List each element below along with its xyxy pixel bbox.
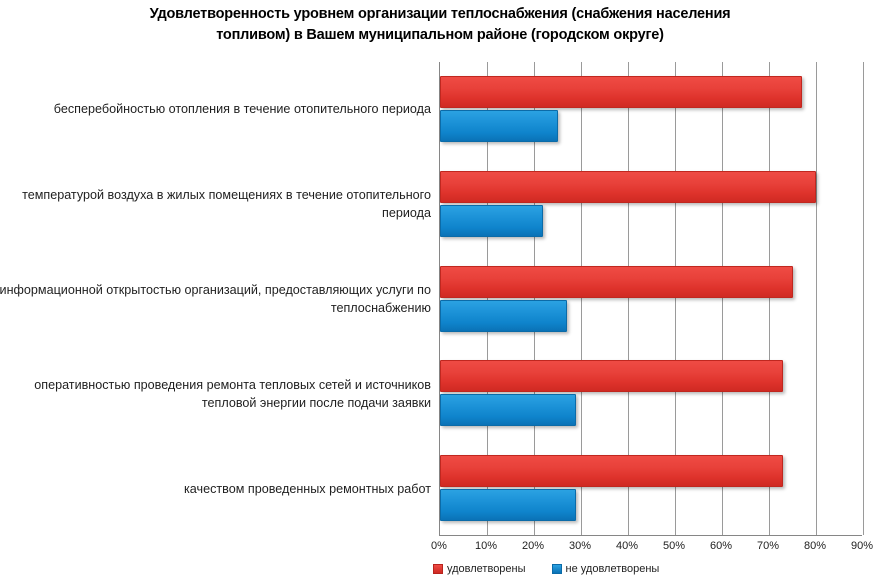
chart-legend: удовлетвореныне удовлетворены	[433, 563, 659, 575]
bar-not-satisfied[interactable]	[440, 394, 576, 426]
category-label: температурой воздуха в жилых помещениях …	[0, 177, 431, 231]
chart-title: Удовлетворенность уровнем организации те…	[90, 4, 790, 46]
x-tick-label: 40%	[604, 540, 650, 552]
x-tick-label: 70%	[745, 540, 791, 552]
legend-swatch-not-satisfied-icon	[552, 564, 562, 574]
x-tick-label: 30%	[557, 540, 603, 552]
plot-area	[439, 62, 862, 536]
category-row	[440, 441, 862, 536]
x-tick-label: 60%	[698, 540, 744, 552]
legend-item[interactable]: удовлетворены	[433, 563, 526, 575]
x-tick-label: 90%	[839, 540, 882, 552]
x-tick-label: 10%	[463, 540, 509, 552]
bar-not-satisfied[interactable]	[440, 205, 543, 237]
bar-not-satisfied[interactable]	[440, 300, 567, 332]
chart-title-line-1: Удовлетворенность уровнем организации те…	[90, 4, 790, 25]
bar-satisfied[interactable]	[440, 266, 793, 298]
x-tick-label: 0%	[416, 540, 462, 552]
bar-satisfied[interactable]	[440, 360, 783, 392]
bar-satisfied[interactable]	[440, 455, 783, 487]
legend-swatch-satisfied-icon	[433, 564, 443, 574]
category-label: информационной открытостью организаций, …	[0, 272, 431, 326]
x-tick-label: 50%	[651, 540, 697, 552]
bar-satisfied[interactable]	[440, 171, 816, 203]
x-tick-label: 20%	[510, 540, 556, 552]
bar-not-satisfied[interactable]	[440, 489, 576, 521]
gridline	[863, 62, 864, 535]
category-label: бесперебойностью отопления в течение ото…	[0, 82, 431, 136]
legend-label: удовлетворены	[447, 563, 526, 575]
chart-title-line-2: топливом) в Вашем муниципальном районе (…	[90, 25, 790, 46]
chart-container: Удовлетворенность уровнем организации те…	[0, 0, 882, 585]
category-row	[440, 252, 862, 347]
x-tick-label: 80%	[792, 540, 838, 552]
legend-item[interactable]: не удовлетворены	[552, 563, 660, 575]
legend-label: не удовлетворены	[566, 563, 660, 575]
category-label: оперативностью проведения ремонта теплов…	[0, 367, 431, 421]
category-row	[440, 157, 862, 252]
bar-not-satisfied[interactable]	[440, 110, 558, 142]
category-row	[440, 62, 862, 157]
category-label: качеством проведенных ремонтных работ	[0, 462, 431, 516]
category-row	[440, 346, 862, 441]
bar-satisfied[interactable]	[440, 76, 802, 108]
